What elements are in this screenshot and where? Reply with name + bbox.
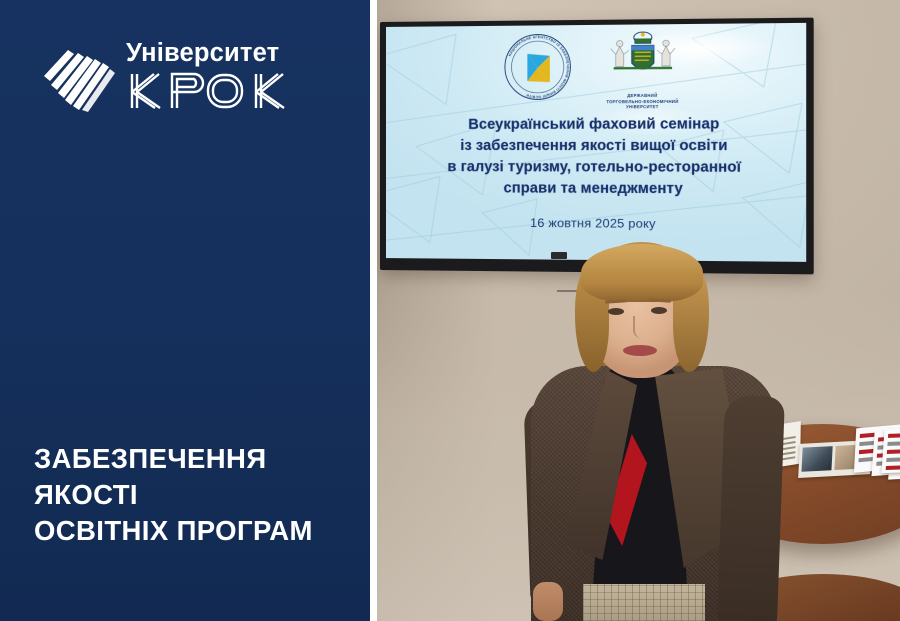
eye-right [651, 307, 667, 314]
panel-divider [370, 0, 377, 621]
flyer [881, 427, 900, 473]
left-brand-panel: Університет [0, 0, 370, 621]
slide-title: Всеукраїнський фаховий семінар із забезп… [386, 114, 806, 201]
hand [533, 582, 563, 621]
slide-title-line-2: із забезпечення якості вищої освіти [402, 136, 789, 158]
presentation-slide: НАЦІОНАЛЬНЕ АГЕНТСТВО ІЗ ЗАБЕЗПЕЧЕННЯ ЯК… [386, 23, 806, 262]
headline-line-1: ЗАБЕЗПЕЧЕННЯ ЯКОСТІ [34, 443, 266, 510]
eye-left [608, 308, 624, 315]
sute-emblem: ДЕРЖАВНИЙ ТОРГОВЕЛЬНО-ЕКОНОМІЧНИЙ УНІВЕР… [600, 30, 685, 108]
brand-wordmark: Університет [126, 38, 306, 116]
presenter-woman [525, 238, 785, 621]
sute-coat-of-arms [600, 30, 685, 90]
panel-headline: ЗАБЕЗПЕЧЕННЯ ЯКОСТІ ОСВІТНІХ ПРОГРАМ [34, 441, 354, 549]
wall-mounted-display: НАЦІОНАЛЬНЕ АГЕНТСТВО ІЗ ЗАБЕЗПЕЧЕННЯ ЯК… [380, 18, 814, 275]
naqa-emblem: НАЦІОНАЛЬНЕ АГЕНТСТВО ІЗ ЗАБЕЗПЕЧЕННЯ ЯК… [501, 31, 573, 102]
slide-title-line-1: Всеукраїнський фаховий семінар [402, 114, 789, 136]
nose [633, 316, 645, 338]
krok-diagonal-stripes-logo [38, 40, 116, 112]
headline-line-2: ОСВІТНІХ ПРОГРАМ [34, 513, 354, 549]
sute-emblem-caption: ДЕРЖАВНИЙ ТОРГОВЕЛЬНО-ЕКОНОМІЧНИЙ УНІВЕР… [606, 93, 678, 109]
slide-title-line-4: справи та менеджменту [402, 178, 789, 201]
mouth [623, 345, 657, 356]
brand-line-krok-lettermark [124, 64, 306, 114]
checkered-skirt [583, 584, 705, 621]
jacket-sleeve-right [717, 395, 785, 621]
conference-room-photo: НАЦІОНАЛЬНЕ АГЕНТСТВО ІЗ ЗАБЕЗПЕЧЕННЯ ЯК… [377, 0, 900, 621]
brand-logo[interactable]: Університет [38, 38, 308, 118]
slide-date: 16 жовтня 2025 року [386, 215, 806, 232]
slide-emblem-row: НАЦІОНАЛЬНЕ АГЕНТСТВО ІЗ ЗАБЕЗПЕЧЕННЯ ЯК… [386, 29, 806, 109]
banner-canvas: Університет [0, 0, 900, 621]
hair-fringe [581, 244, 703, 302]
display-screen: НАЦІОНАЛЬНЕ АГЕНТСТВО ІЗ ЗАБЕЗПЕЧЕННЯ ЯК… [386, 23, 806, 262]
slide-title-line-3: в галузі туризму, готельно-ресторанної [402, 157, 789, 179]
